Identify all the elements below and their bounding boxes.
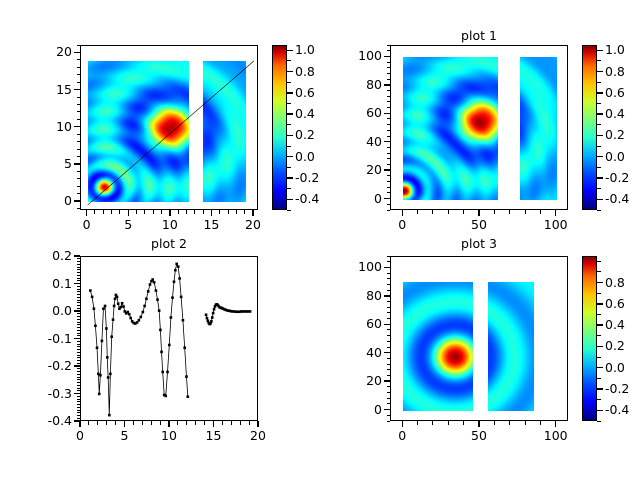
y-minor-tick — [387, 364, 391, 365]
colorbar-tick-label: 0.2 — [295, 127, 315, 142]
y-tick-label: 60 — [334, 316, 382, 331]
colorbar-tick-label: 0.4 — [295, 106, 315, 121]
y-minor-tick — [77, 163, 81, 164]
y-minor-tick — [77, 366, 81, 367]
line-marker — [128, 313, 131, 316]
line-marker — [121, 302, 124, 305]
y-tick-label: 20 — [334, 162, 382, 177]
x-minor-tick — [540, 210, 541, 214]
line-marker — [149, 283, 152, 286]
x-minor-tick — [509, 210, 510, 214]
x-minor-tick — [417, 421, 418, 425]
x-tick-label: 15 — [192, 428, 236, 443]
y-minor-tick — [77, 286, 81, 287]
plot0-overlay-line — [81, 46, 258, 210]
y-tick-label: -0.1 — [24, 331, 72, 346]
line-marker — [211, 316, 214, 319]
y-minor-tick — [77, 104, 81, 105]
y-tick-label: 40 — [334, 134, 382, 149]
x-minor-tick — [258, 421, 259, 425]
y-minor-tick — [77, 349, 81, 350]
y-minor-tick — [387, 421, 391, 422]
y-minor-tick — [77, 352, 81, 353]
y-minor-tick — [77, 374, 81, 375]
plot3-colorbar-gradient — [583, 257, 596, 420]
colorbar-tick-label: 0.0 — [295, 149, 315, 164]
colorbar-minor-tick — [597, 282, 601, 283]
x-tick-label: 10 — [147, 428, 191, 443]
line-marker — [129, 317, 132, 320]
x-minor-tick — [106, 421, 107, 425]
y-minor-tick — [77, 275, 81, 276]
line-marker — [147, 290, 150, 293]
colorbar-tick-label: 0.8 — [295, 64, 315, 79]
y-minor-tick — [77, 418, 81, 419]
colorbar-minor-tick — [597, 146, 601, 147]
colorbar-minor-tick — [287, 199, 291, 200]
y-minor-tick — [387, 164, 391, 165]
y-minor-tick — [77, 141, 81, 142]
line-marker — [96, 346, 99, 349]
y-minor-tick — [77, 111, 81, 112]
y-minor-tick — [77, 393, 81, 394]
colorbar-tick-label: 0.8 — [605, 275, 625, 290]
x-minor-tick — [494, 421, 495, 425]
plot3-image-left — [403, 282, 473, 411]
colorbar-minor-tick — [597, 82, 601, 83]
y-minor-tick — [387, 198, 391, 199]
line-marker — [210, 320, 213, 323]
y-tick-label: 80 — [334, 288, 382, 303]
x-minor-tick — [178, 210, 179, 214]
y-minor-tick — [387, 73, 391, 74]
y-minor-tick — [77, 256, 81, 257]
y-minor-tick — [387, 347, 391, 348]
y-minor-tick — [387, 409, 391, 410]
y-tick-label: 5 — [24, 156, 72, 171]
line-marker — [143, 305, 146, 308]
line-marker — [145, 298, 148, 301]
x-minor-tick — [494, 210, 495, 214]
y-minor-tick — [77, 308, 81, 309]
x-minor-tick — [249, 421, 250, 425]
y-minor-tick — [387, 329, 391, 330]
y-minor-tick — [77, 382, 81, 383]
y-minor-tick — [387, 67, 391, 68]
line-marker — [91, 296, 94, 299]
y-minor-tick — [387, 386, 391, 387]
colorbar-minor-tick — [287, 188, 291, 189]
plot0-axes[interactable] — [80, 45, 258, 210]
y-tick-label: 20 — [24, 44, 72, 59]
line-marker — [101, 340, 104, 343]
y-minor-tick — [387, 96, 391, 97]
line-marker — [106, 356, 109, 359]
y-minor-tick — [77, 89, 81, 90]
y-minor-tick — [77, 341, 81, 342]
x-minor-tick — [509, 421, 510, 425]
y-minor-tick — [387, 318, 391, 319]
y-minor-tick — [77, 45, 81, 46]
y-minor-tick — [387, 118, 391, 119]
y-minor-tick — [387, 175, 391, 176]
x-minor-tick — [86, 210, 87, 214]
y-minor-tick — [387, 107, 391, 108]
x-minor-tick — [402, 421, 403, 425]
line-marker — [113, 305, 116, 308]
colorbar-minor-tick — [597, 314, 601, 315]
line-marker — [102, 307, 105, 310]
x-tick-label: 50 — [457, 428, 501, 443]
line-marker — [182, 319, 185, 322]
colorbar-minor-tick — [597, 210, 601, 211]
y-minor-tick — [387, 324, 391, 325]
y-minor-tick — [77, 258, 81, 259]
colorbar-tick-label: 0.0 — [605, 360, 625, 375]
y-minor-tick — [77, 379, 81, 380]
plot2-axes[interactable] — [80, 256, 258, 421]
y-tick-label: 60 — [334, 105, 382, 120]
y-minor-tick — [387, 79, 391, 80]
y-tick-label: 0 — [24, 193, 72, 208]
y-minor-tick — [77, 324, 81, 325]
line-marker — [160, 351, 163, 354]
line-marker — [138, 319, 141, 322]
y-minor-tick — [77, 278, 81, 279]
y-minor-tick — [77, 305, 81, 306]
y-minor-tick — [77, 377, 81, 378]
colorbar-minor-tick — [287, 103, 291, 104]
x-tick-label: 0 — [58, 428, 102, 443]
line-marker — [178, 277, 181, 280]
y-minor-tick — [77, 319, 81, 320]
y-minor-tick — [387, 136, 391, 137]
line-marker — [151, 278, 154, 281]
x-minor-tick — [448, 210, 449, 214]
y-minor-tick — [77, 171, 81, 172]
y-minor-tick — [77, 333, 81, 334]
x-minor-tick — [133, 421, 134, 425]
line-marker — [156, 298, 159, 301]
y-minor-tick — [77, 52, 81, 53]
colorbar-minor-tick — [287, 178, 291, 179]
colorbar-minor-tick — [597, 399, 601, 400]
colorbar-tick-label: -0.2 — [605, 381, 629, 396]
x-minor-tick — [124, 421, 125, 425]
y-minor-tick — [77, 371, 81, 372]
y-minor-tick — [77, 327, 81, 328]
x-tick-label: 20 — [231, 217, 275, 232]
y-minor-tick — [77, 421, 81, 422]
x-tick-label: 5 — [103, 428, 147, 443]
colorbar-minor-tick — [597, 357, 601, 358]
line-marker — [105, 327, 108, 330]
colorbar-minor-tick — [287, 156, 291, 157]
y-minor-tick — [387, 261, 391, 262]
plot2-line-series — [81, 257, 258, 421]
x-minor-tick — [103, 210, 104, 214]
y-tick-label: -0.3 — [24, 386, 72, 401]
x-minor-tick — [194, 210, 195, 214]
x-tick-label: 20 — [236, 428, 280, 443]
line-marker — [109, 373, 112, 376]
line-marker — [168, 344, 171, 347]
y-minor-tick — [77, 201, 81, 202]
line-marker — [122, 305, 125, 308]
colorbar-minor-tick — [597, 421, 601, 422]
y-minor-tick — [77, 415, 81, 416]
colorbar-minor-tick — [287, 50, 291, 51]
plot1-image-right — [520, 57, 557, 199]
y-minor-tick — [77, 269, 81, 270]
y-minor-tick — [77, 357, 81, 358]
y-minor-tick — [387, 295, 391, 296]
colorbar-tick-label: -0.4 — [295, 191, 319, 206]
y-minor-tick — [77, 316, 81, 317]
y-minor-tick — [387, 101, 391, 102]
y-minor-tick — [77, 134, 81, 135]
colorbar-minor-tick — [287, 82, 291, 83]
y-minor-tick — [387, 158, 391, 159]
colorbar-tick-label: 0.6 — [605, 296, 625, 311]
x-minor-tick — [244, 210, 245, 214]
colorbar-tick-label: 0.4 — [605, 317, 625, 332]
y-tick-label: 100 — [334, 48, 382, 63]
x-minor-tick — [144, 210, 145, 214]
x-tick-label: 15 — [189, 217, 233, 232]
y-minor-tick — [77, 407, 81, 408]
line-marker — [108, 414, 111, 417]
x-minor-tick — [128, 210, 129, 214]
x-minor-tick — [448, 421, 449, 425]
y-minor-tick — [387, 84, 391, 85]
y-tick-label: 15 — [24, 82, 72, 97]
y-minor-tick — [387, 124, 391, 125]
plot1-colorbar — [582, 45, 597, 210]
y-minor-tick — [77, 261, 81, 262]
colorbar-minor-tick — [597, 178, 601, 179]
x-minor-tick — [555, 210, 556, 214]
x-minor-tick — [169, 421, 170, 425]
y-minor-tick — [387, 90, 391, 91]
y-minor-tick — [387, 192, 391, 193]
line-marker — [140, 316, 143, 319]
x-minor-tick — [80, 421, 81, 425]
line-marker — [185, 375, 188, 378]
y-minor-tick — [387, 358, 391, 359]
line-marker — [213, 308, 216, 311]
x-tick-label: 5 — [106, 217, 150, 232]
line-marker — [99, 374, 102, 377]
y-minor-tick — [387, 45, 391, 46]
line-marker — [205, 313, 208, 316]
y-minor-tick — [77, 360, 81, 361]
y-tick-label: 20 — [334, 373, 382, 388]
y-minor-tick — [77, 404, 81, 405]
colorbar-minor-tick — [287, 124, 291, 125]
line-marker — [98, 393, 101, 396]
plot1-axes[interactable] — [390, 45, 568, 210]
x-minor-tick — [555, 421, 556, 425]
y-minor-tick — [387, 403, 391, 404]
y-minor-tick — [77, 330, 81, 331]
y-minor-tick — [77, 59, 81, 60]
line-marker — [117, 302, 120, 305]
colorbar-minor-tick — [597, 71, 601, 72]
y-tick-label: -0.2 — [24, 358, 72, 373]
y-minor-tick — [387, 335, 391, 336]
plot3-axes[interactable] — [390, 256, 568, 421]
y-minor-tick — [77, 363, 81, 364]
x-minor-tick — [417, 210, 418, 214]
colorbar-minor-tick — [597, 346, 601, 347]
plot0-colorbar — [272, 45, 287, 210]
line-marker — [161, 371, 164, 374]
y-minor-tick — [77, 156, 81, 157]
y-minor-tick — [77, 300, 81, 301]
y-minor-tick — [77, 346, 81, 347]
x-minor-tick — [228, 210, 229, 214]
colorbar-minor-tick — [287, 167, 291, 168]
diagonal-overlay-path — [88, 61, 254, 205]
x-tick-label: 0 — [380, 428, 424, 443]
x-minor-tick — [479, 421, 480, 425]
y-minor-tick — [77, 302, 81, 303]
y-minor-tick — [77, 335, 81, 336]
y-minor-tick — [387, 267, 391, 268]
colorbar-tick-label: 1.0 — [295, 42, 315, 57]
colorbar-minor-tick — [597, 389, 601, 390]
colorbar-minor-tick — [597, 135, 601, 136]
y-minor-tick — [387, 284, 391, 285]
y-minor-tick — [77, 388, 81, 389]
line-marker — [94, 324, 97, 327]
colorbar-minor-tick — [597, 114, 601, 115]
x-minor-tick — [240, 421, 241, 425]
colorbar-tick-label: 0.6 — [295, 85, 315, 100]
colorbar-minor-tick — [287, 92, 291, 93]
y-minor-tick — [77, 149, 81, 150]
colorbar-tick-label: 0.8 — [605, 64, 625, 79]
line-marker — [120, 306, 123, 309]
y-minor-tick — [77, 294, 81, 295]
x-minor-tick — [525, 421, 526, 425]
y-tick-label: 80 — [334, 77, 382, 92]
y-minor-tick — [387, 352, 391, 353]
y-minor-tick — [387, 307, 391, 308]
plot1-colorbar-gradient — [583, 46, 596, 209]
colorbar-tick-label: -0.4 — [605, 402, 629, 417]
line-marker — [116, 296, 119, 299]
y-minor-tick — [77, 410, 81, 411]
y-tick-label: 0.1 — [24, 276, 72, 291]
colorbar-minor-tick — [287, 146, 291, 147]
colorbar-minor-tick — [597, 303, 601, 304]
line-marker — [173, 280, 176, 283]
colorbar-minor-tick — [287, 60, 291, 61]
y-minor-tick — [77, 186, 81, 187]
colorbar-tick-label: 1.0 — [605, 42, 625, 57]
x-minor-tick — [219, 210, 220, 214]
x-tick-label: 0 — [380, 217, 424, 232]
figure-canvas: 0510152005101520 -0.4-0.20.00.20.40.60.8… — [0, 0, 640, 480]
y-tick-label: -0.4 — [24, 413, 72, 428]
x-minor-tick — [236, 210, 237, 214]
y-minor-tick — [387, 62, 391, 63]
x-minor-tick — [111, 210, 112, 214]
y-tick-label: 0.0 — [24, 303, 72, 318]
y-minor-tick — [387, 369, 391, 370]
plot3-title: plot 3 — [390, 236, 568, 251]
y-minor-tick — [77, 322, 81, 323]
colorbar-minor-tick — [597, 167, 601, 168]
colorbar-minor-tick — [597, 335, 601, 336]
x-tick-label: 100 — [534, 217, 578, 232]
y-minor-tick — [77, 412, 81, 413]
line-marker — [93, 307, 96, 310]
y-minor-tick — [77, 311, 81, 312]
y-minor-tick — [387, 153, 391, 154]
y-tick-label: 100 — [334, 259, 382, 274]
colorbar-minor-tick — [597, 92, 601, 93]
line-marker — [175, 263, 178, 266]
y-minor-tick — [387, 256, 391, 257]
colorbar-tick-label: 0.2 — [605, 127, 625, 142]
y-minor-tick — [387, 301, 391, 302]
x-minor-tick — [540, 421, 541, 425]
line-marker — [183, 346, 186, 349]
x-minor-tick — [88, 421, 89, 425]
x-minor-tick — [525, 210, 526, 214]
y-minor-tick — [77, 396, 81, 397]
x-minor-tick — [177, 421, 178, 425]
plot0-colorbar-gradient — [273, 46, 286, 209]
colorbar-minor-tick — [597, 325, 601, 326]
colorbar-tick-label: -0.4 — [605, 191, 629, 206]
colorbar-tick-label: 0.0 — [605, 149, 625, 164]
x-minor-tick — [222, 421, 223, 425]
colorbar-minor-tick — [287, 71, 291, 72]
y-minor-tick — [77, 344, 81, 345]
line-marker — [177, 265, 180, 268]
y-minor-tick — [77, 97, 81, 98]
colorbar-minor-tick — [597, 188, 601, 189]
x-minor-tick — [153, 210, 154, 214]
colorbar-minor-tick — [597, 103, 601, 104]
x-minor-tick — [402, 210, 403, 214]
x-minor-tick — [161, 210, 162, 214]
y-minor-tick — [77, 267, 81, 268]
y-minor-tick — [77, 291, 81, 292]
colorbar-tick-label: -0.2 — [295, 170, 319, 185]
colorbar-minor-tick — [597, 367, 601, 368]
y-minor-tick — [387, 273, 391, 274]
y-minor-tick — [77, 82, 81, 83]
y-minor-tick — [77, 297, 81, 298]
plot3-image-right — [488, 282, 535, 411]
y-tick-label: 0 — [334, 402, 382, 417]
x-minor-tick — [231, 421, 232, 425]
y-minor-tick — [77, 264, 81, 265]
line-marker — [104, 305, 107, 308]
y-minor-tick — [387, 290, 391, 291]
colorbar-minor-tick — [597, 124, 601, 125]
plot2-title: plot 2 — [80, 236, 258, 251]
y-minor-tick — [77, 289, 81, 290]
x-minor-tick — [253, 210, 254, 214]
x-minor-tick — [204, 421, 205, 425]
line-marker — [112, 318, 115, 321]
